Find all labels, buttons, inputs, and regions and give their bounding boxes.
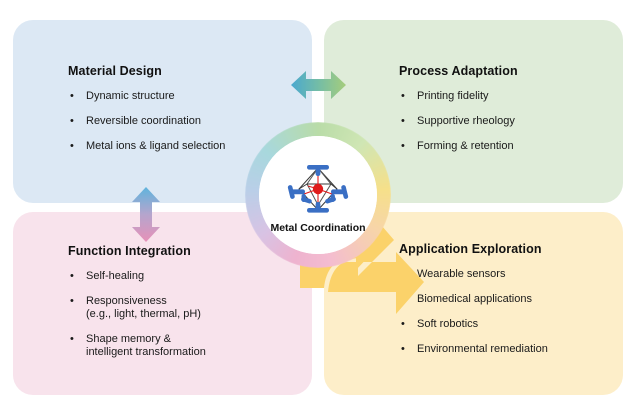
list-item-label: Supportive rheology [417,115,515,127]
center-node-label: Metal Coordination [270,222,365,234]
bullet-list-process-adaptation: • Printing fidelity • Supportive rheolog… [399,90,518,153]
list-item-label: Reversible coordination [86,115,201,127]
list-item: • Forming & retention [399,140,518,153]
center-node-metal-coordination[interactable]: Metal Coordination [259,136,377,254]
list-item: • Responsiveness (e.g., light, thermal, … [68,295,206,321]
list-item-label: Dynamic structure [86,90,175,102]
list-item: • Reversible coordination [68,115,225,128]
octahedral-metal-complex-icon [287,160,349,218]
bullet-dot-icon: • [401,343,405,356]
double-arrow-vertical-icon [127,186,165,243]
bullet-list-function-integration: • Self-healing • Responsiveness (e.g., l… [68,270,206,359]
list-item: • Dynamic structure [68,90,225,103]
bullet-dot-icon: • [70,333,74,346]
list-item-label-line2: (e.g., light, thermal, pH) [86,308,206,321]
list-item-label: Environmental remediation [417,343,548,355]
list-item-label: Responsiveness [86,295,167,307]
panel-function-integration-content: Function Integration • Self-healing • Re… [68,244,206,359]
double-arrow-horizontal-icon [290,66,347,104]
bullet-dot-icon: • [401,140,405,153]
list-item: • Supportive rheology [399,115,518,128]
list-item-label: Self-healing [86,270,144,282]
panel-title-function-integration: Function Integration [68,244,206,258]
list-item: • Metal ions & ligand selection [68,140,225,153]
list-item-label: Metal ions & ligand selection [86,140,225,152]
list-item-label: Forming & retention [417,140,514,152]
list-item-label: Shape memory & [86,333,171,345]
list-item-label-line2: intelligent transformation [86,346,206,359]
panel-title-material-design: Material Design [68,64,225,78]
bullet-dot-icon: • [70,140,74,153]
list-item-label: Printing fidelity [417,90,489,102]
list-item: • Shape memory & intelligent transformat… [68,333,206,359]
bullet-dot-icon: • [70,295,74,308]
bullet-dot-icon: • [70,270,74,283]
list-item: • Self-healing [68,270,206,283]
bullet-dot-icon: • [70,115,74,128]
bullet-list-material-design: • Dynamic structure • Reversible coordin… [68,90,225,153]
list-item: • Environmental remediation [399,343,548,356]
panel-process-adaptation-content: Process Adaptation • Printing fidelity •… [399,64,518,153]
panel-title-process-adaptation: Process Adaptation [399,64,518,78]
diagram-canvas: Material Design • Dynamic structure • Re… [0,0,636,413]
list-item: • Printing fidelity [399,90,518,103]
bullet-dot-icon: • [70,90,74,103]
panel-material-design-content: Material Design • Dynamic structure • Re… [68,64,225,153]
bullet-dot-icon: • [401,90,405,103]
bullet-dot-icon: • [401,115,405,128]
